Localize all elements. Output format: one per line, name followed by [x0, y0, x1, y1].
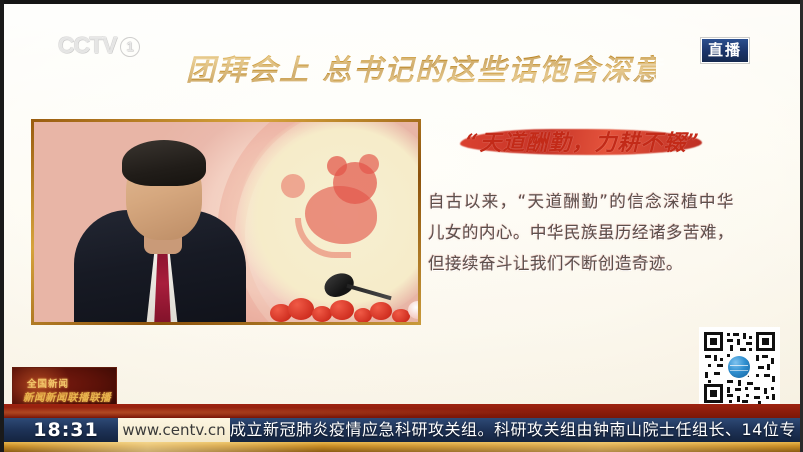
- live-badge: 直播: [701, 38, 749, 63]
- speaker-figure: [68, 132, 252, 325]
- qr-code[interactable]: [699, 327, 780, 408]
- program-logo-badge: 全国新闻 新闻新闻联播联播: [12, 367, 117, 409]
- news-photo: [31, 119, 421, 325]
- clock-display: 18:31: [16, 419, 116, 441]
- broadcast-screen: CCTV1 团拜会上 总书记的这些话饱含深意 直播: [0, 0, 803, 452]
- letterbox-left: [0, 0, 4, 452]
- pull-quote: “天道酬勤，力耕不辍”: [438, 128, 728, 162]
- news-ticker-text: 成立新冠肺炎疫情应急科研攻关组。科研攻关组由钟南山院士任组长、14位专: [230, 418, 796, 442]
- program-logo-line1: 全国新闻: [27, 376, 69, 390]
- flower-arrangement: [270, 296, 421, 325]
- photo-backdrop: [34, 122, 418, 322]
- page-title: 团拜会上 总书记的这些话饱含深意: [186, 47, 656, 89]
- gold-bottom-bar: [4, 442, 800, 452]
- red-accent-bar: [4, 404, 800, 418]
- pull-quote-text: “天道酬勤，力耕不辍”: [438, 128, 728, 158]
- qr-canvas: [702, 330, 777, 405]
- news-ticker: 成立新冠肺炎疫情应急科研攻关组。科研攻关组由钟南山院士任组长、14位专: [230, 418, 800, 442]
- quote-body-text: 自古以来，“天道酬勤”的信念深植中华儿女的内心。中华民族虽历经诸多苦难，但接续奋…: [428, 186, 734, 279]
- rat-papercut-icon: [289, 156, 397, 264]
- program-logo-line2: 新闻新闻联播联播: [23, 390, 111, 405]
- cctv-channel-logo: CCTV1: [58, 32, 140, 59]
- cctv-logo-text: CCTV: [58, 32, 117, 58]
- cctv-channel-number: 1: [120, 37, 140, 57]
- letterbox-top: [0, 0, 803, 4]
- globe-icon: [728, 356, 750, 378]
- website-url[interactable]: www.centv.cn: [118, 418, 230, 442]
